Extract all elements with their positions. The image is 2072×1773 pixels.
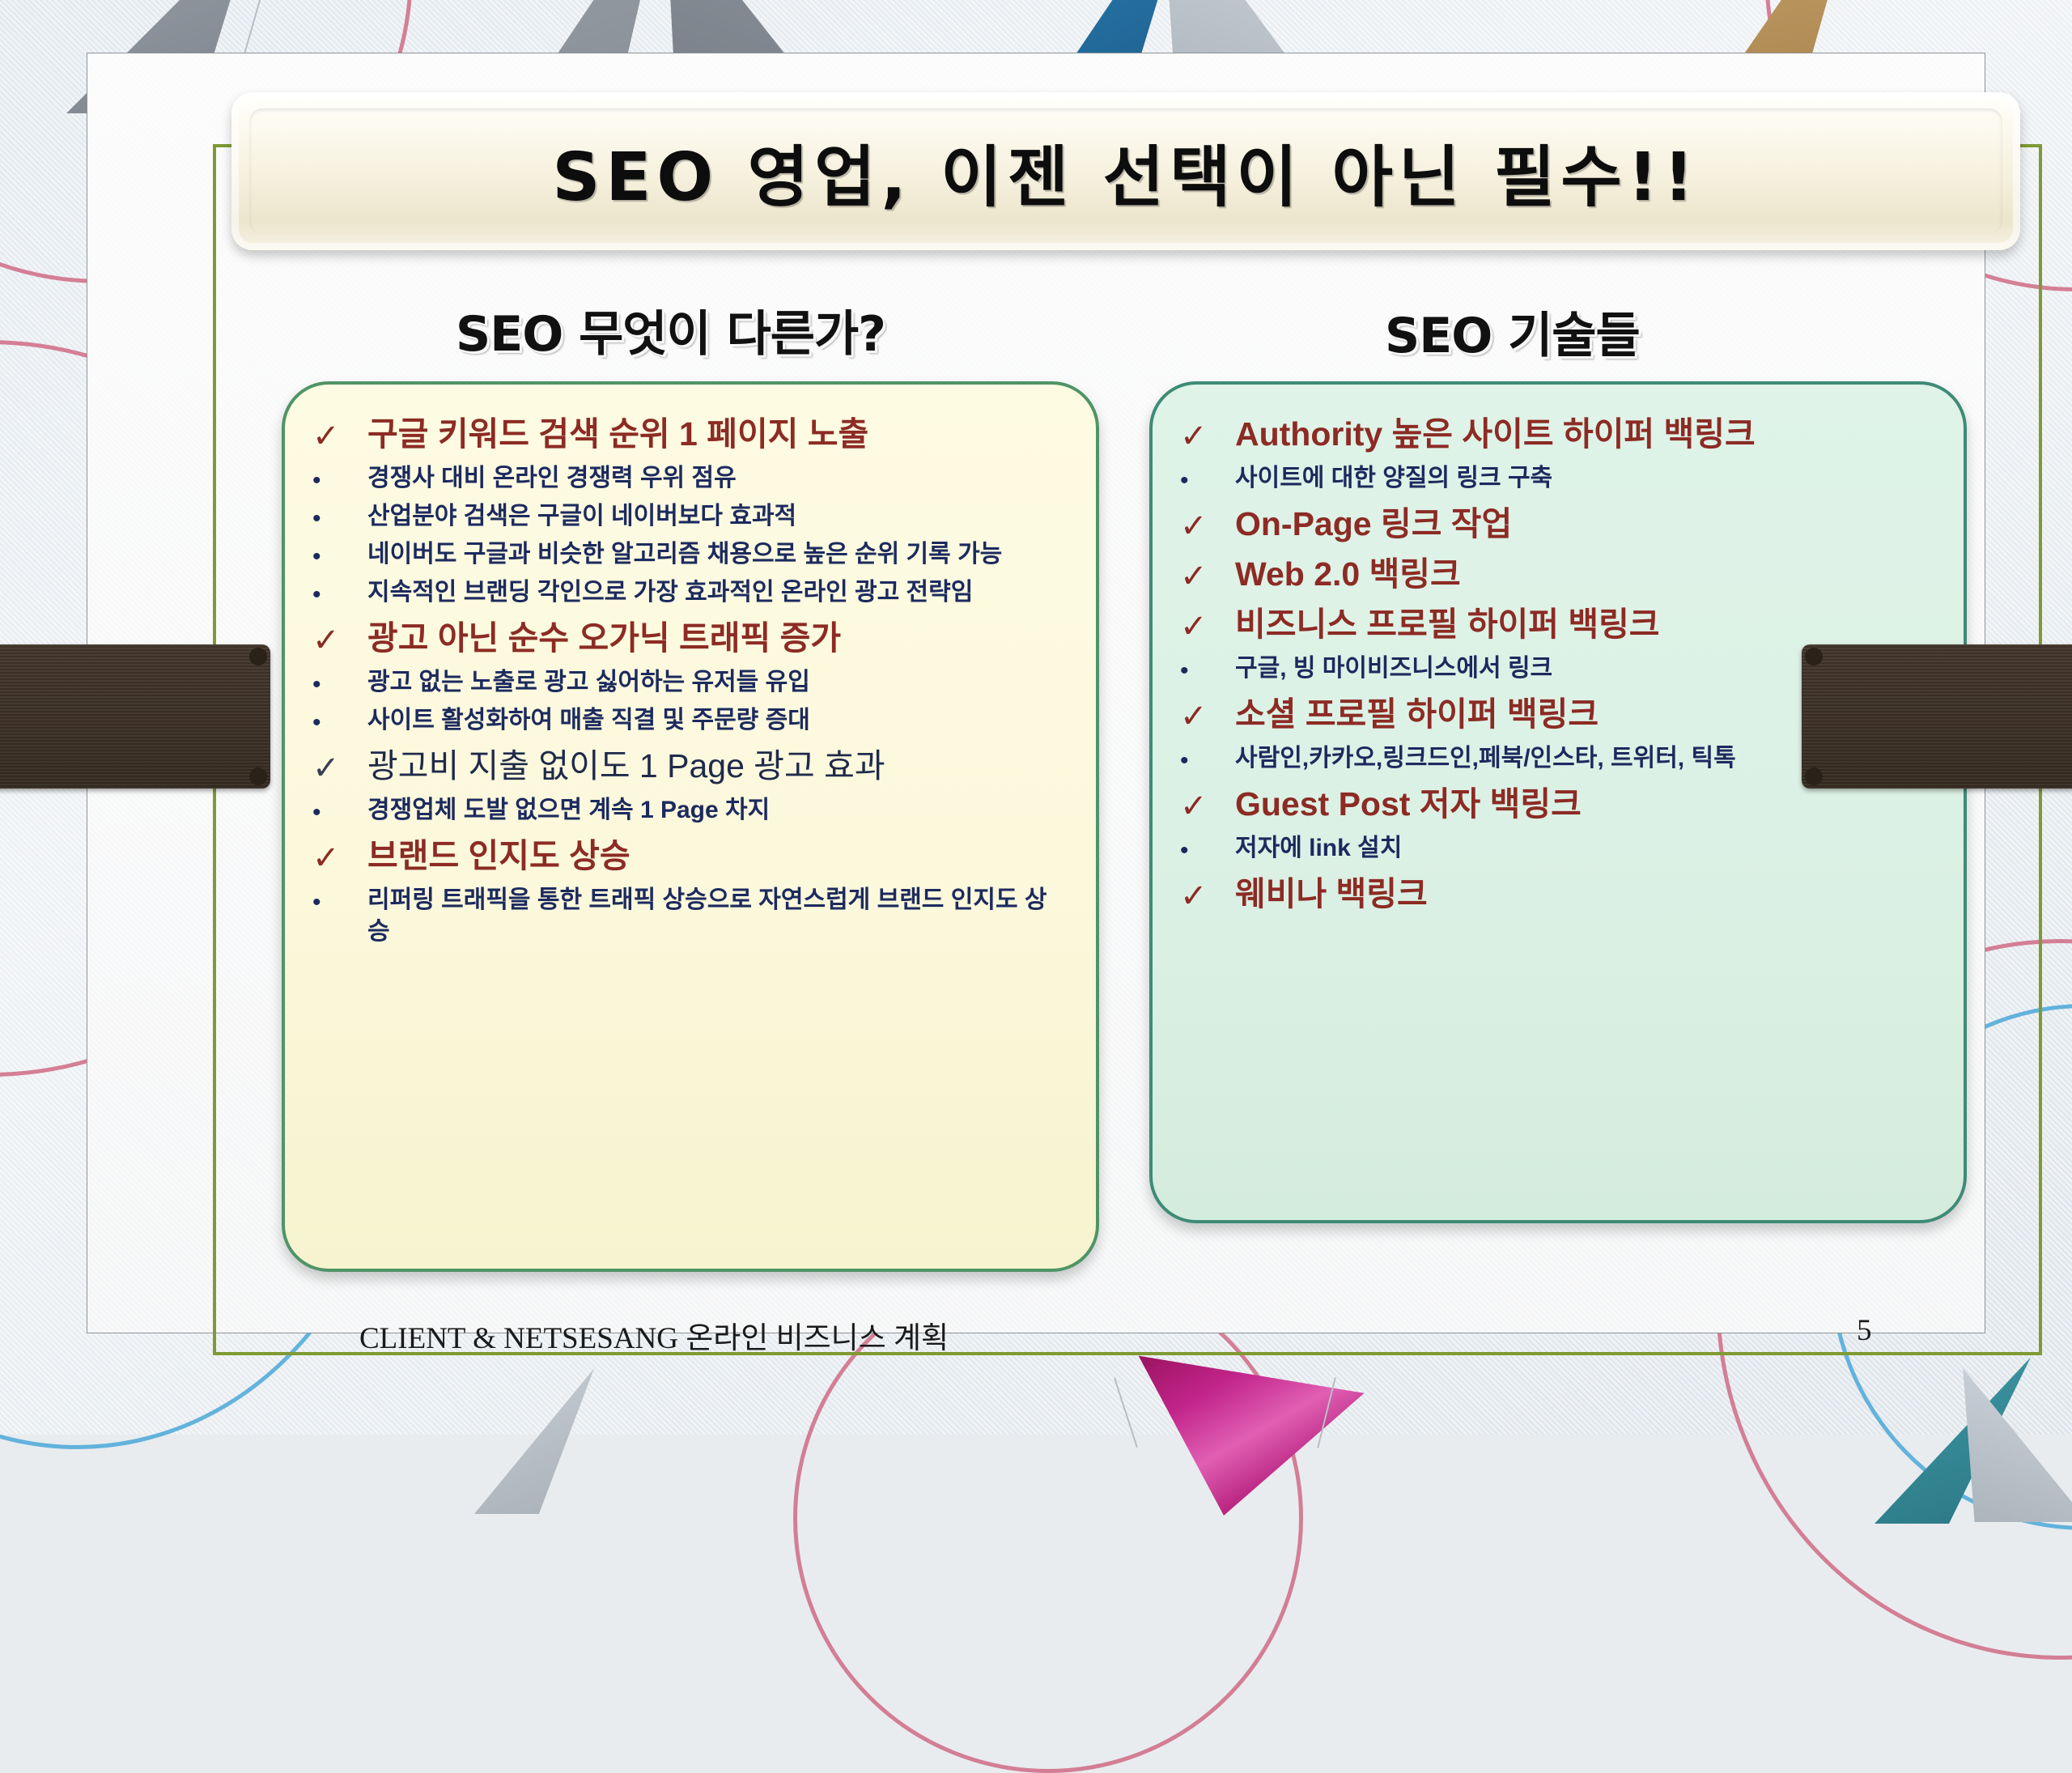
footer-text: CLIENT & NETSESANG 온라인 비즈니스 계획 <box>359 1313 949 1357</box>
list-item-sub: •리퍼링 트래픽을 통한 트래픽 상승으로 자연스럽게 브랜드 인지도 상승 <box>312 884 1068 947</box>
right-feature-card: ✓Authority 높은 사이트 하이퍼 백링크•사이트에 대한 양질의 링크… <box>1149 381 1967 1223</box>
list-item-primary: ✓Guest Post 저자 백링크 <box>1180 784 1936 824</box>
list-item-label: 구글 키워드 검색 순위 1 페이지 노출 <box>367 414 868 454</box>
bullet-icon: • <box>312 884 367 915</box>
slide-panel: SEO 영업, 이젠 선택이 아닌 필수!! SEO 무엇이 다른가? SEO … <box>87 53 1985 1333</box>
list-item-primary: ✓비즈니스 프로필 하이퍼 백링크 <box>1180 604 1936 644</box>
list-item-label: 사이트 활성화하여 매출 직결 및 주문량 증대 <box>367 704 810 736</box>
list-item-sub: •저자에 link 설치 <box>1180 832 1936 864</box>
list-item-label: 광고 아닌 순수 오가닉 트래픽 증가 <box>367 618 841 658</box>
bar-cap-left-top <box>249 648 267 665</box>
list-item-label: 사이트에 대한 양질의 링크 구축 <box>1235 462 1552 494</box>
list-item-label: 산업분야 검색은 구글이 네이버보다 효과적 <box>367 500 796 532</box>
list-item-primary: ✓브랜드 인지도 상승 <box>312 835 1068 876</box>
list-item-sub: •경쟁업체 도발 없으면 계속 1 Page 차지 <box>312 794 1068 826</box>
check-icon: ✓ <box>1180 874 1235 912</box>
list-item-primary: ✓On-Page 링크 작업 <box>1180 504 1936 544</box>
check-icon: ✓ <box>312 414 367 453</box>
list-item-label: 경쟁업체 도발 없으면 계속 1 Page 차지 <box>367 794 770 826</box>
check-icon: ✓ <box>1180 604 1235 643</box>
list-item-label: 소셜 프로필 하이퍼 백링크 <box>1235 694 1599 734</box>
bullet-icon: • <box>312 462 367 493</box>
bullet-icon: • <box>312 500 367 531</box>
check-icon: ✓ <box>312 618 367 657</box>
list-item-primary: ✓웨비나 백링크 <box>1180 874 1936 914</box>
check-icon: ✓ <box>1180 694 1235 733</box>
left-column-heading: SEO 무엇이 다른가? <box>456 295 885 365</box>
decorative-bar-right <box>1802 644 2072 789</box>
list-item-sub: •네이버도 구글과 비슷한 알고리즘 채용으로 높은 순위 기록 가능 <box>312 538 1068 570</box>
bullet-icon: • <box>312 666 367 697</box>
list-item-primary: ✓광고 아닌 순수 오가닉 트래픽 증가 <box>312 618 1068 658</box>
list-item-label: Web 2.0 백링크 <box>1235 554 1461 594</box>
bullet-icon: • <box>312 794 367 825</box>
bullet-icon: • <box>1180 742 1235 773</box>
page-title: SEO 영업, 이젠 선택이 아닌 필수!! <box>231 92 2020 250</box>
bullet-icon: • <box>312 576 367 607</box>
check-icon: ✓ <box>1180 554 1235 593</box>
list-item-label: 웨비나 백링크 <box>1235 874 1428 914</box>
list-item-label: 비즈니스 프로필 하이퍼 백링크 <box>1235 604 1660 644</box>
check-icon: ✓ <box>312 835 367 874</box>
list-item-label: 지속적인 브랜딩 각인으로 가장 효과적인 온라인 광고 전략임 <box>367 576 973 608</box>
list-item-sub: •사이트에 대한 양질의 링크 구축 <box>1180 462 1936 494</box>
right-column-heading: SEO 기술들 <box>1385 296 1640 367</box>
list-item-label: 브랜드 인지도 상승 <box>367 835 631 876</box>
list-item-label: 광고 없는 노출로 광고 싫어하는 유저들 유입 <box>367 666 810 698</box>
list-item-sub: •경쟁사 대비 온라인 경쟁력 우위 점유 <box>312 462 1068 494</box>
list-item-primary: ✓광고비 지출 없이도 1 Page 광고 효과 <box>312 746 1068 786</box>
check-icon: ✓ <box>1180 784 1235 823</box>
bar-cap-right-top <box>1805 648 1823 665</box>
list-item-label: Authority 높은 사이트 하이퍼 백링크 <box>1235 414 1756 454</box>
list-item-label: 네이버도 구글과 비슷한 알고리즘 채용으로 높은 순위 기록 가능 <box>367 538 1002 570</box>
list-item-sub: •산업분야 검색은 구글이 네이버보다 효과적 <box>312 500 1068 532</box>
list-item-label: On-Page 링크 작업 <box>1235 504 1512 544</box>
bullet-icon: • <box>1180 832 1235 863</box>
check-icon: ✓ <box>1180 414 1235 453</box>
list-item-primary: ✓Web 2.0 백링크 <box>1180 554 1936 594</box>
decorative-bar-left <box>0 644 270 789</box>
check-icon: ✓ <box>1180 504 1235 542</box>
page-number: 5 <box>1857 1313 1872 1348</box>
title-banner: SEO 영업, 이젠 선택이 아닌 필수!! <box>231 92 2020 250</box>
left-item-list: ✓구글 키워드 검색 순위 1 페이지 노출•경쟁사 대비 온라인 경쟁력 우위… <box>285 385 1096 947</box>
list-item-label: 저자에 link 설치 <box>1235 832 1402 864</box>
list-item-label: 사람인,카카오,링크드인,페북/인스타, 트위터, 틱톡 <box>1235 742 1736 774</box>
list-item-label: 구글, 빙 마이비즈니스에서 링크 <box>1235 653 1552 684</box>
list-item-sub: •지속적인 브랜딩 각인으로 가장 효과적인 온라인 광고 전략임 <box>312 576 1068 608</box>
bar-cap-right-bottom <box>1805 767 1823 785</box>
check-icon: ✓ <box>312 746 367 784</box>
list-item-primary: ✓구글 키워드 검색 순위 1 페이지 노출 <box>312 414 1068 454</box>
bar-cap-left-bottom <box>249 767 267 785</box>
bullet-icon: • <box>1180 462 1235 493</box>
bullet-icon: • <box>1180 653 1235 683</box>
list-item-label: Guest Post 저자 백링크 <box>1235 784 1582 824</box>
list-item-primary: ✓Authority 높은 사이트 하이퍼 백링크 <box>1180 414 1936 454</box>
left-feature-card: ✓구글 키워드 검색 순위 1 페이지 노출•경쟁사 대비 온라인 경쟁력 우위… <box>282 381 1099 1272</box>
list-item-label: 광고비 지출 없이도 1 Page 광고 효과 <box>367 746 885 786</box>
list-item-sub: •사이트 활성화하여 매출 직결 및 주문량 증대 <box>312 704 1068 736</box>
list-item-sub: •광고 없는 노출로 광고 싫어하는 유저들 유입 <box>312 666 1068 698</box>
list-item-label: 경쟁사 대비 온라인 경쟁력 우위 점유 <box>367 462 737 494</box>
list-item-label: 리퍼링 트래픽을 통한 트래픽 상승으로 자연스럽게 브랜드 인지도 상승 <box>367 884 1068 947</box>
bullet-icon: • <box>312 538 367 569</box>
bullet-icon: • <box>312 704 367 735</box>
